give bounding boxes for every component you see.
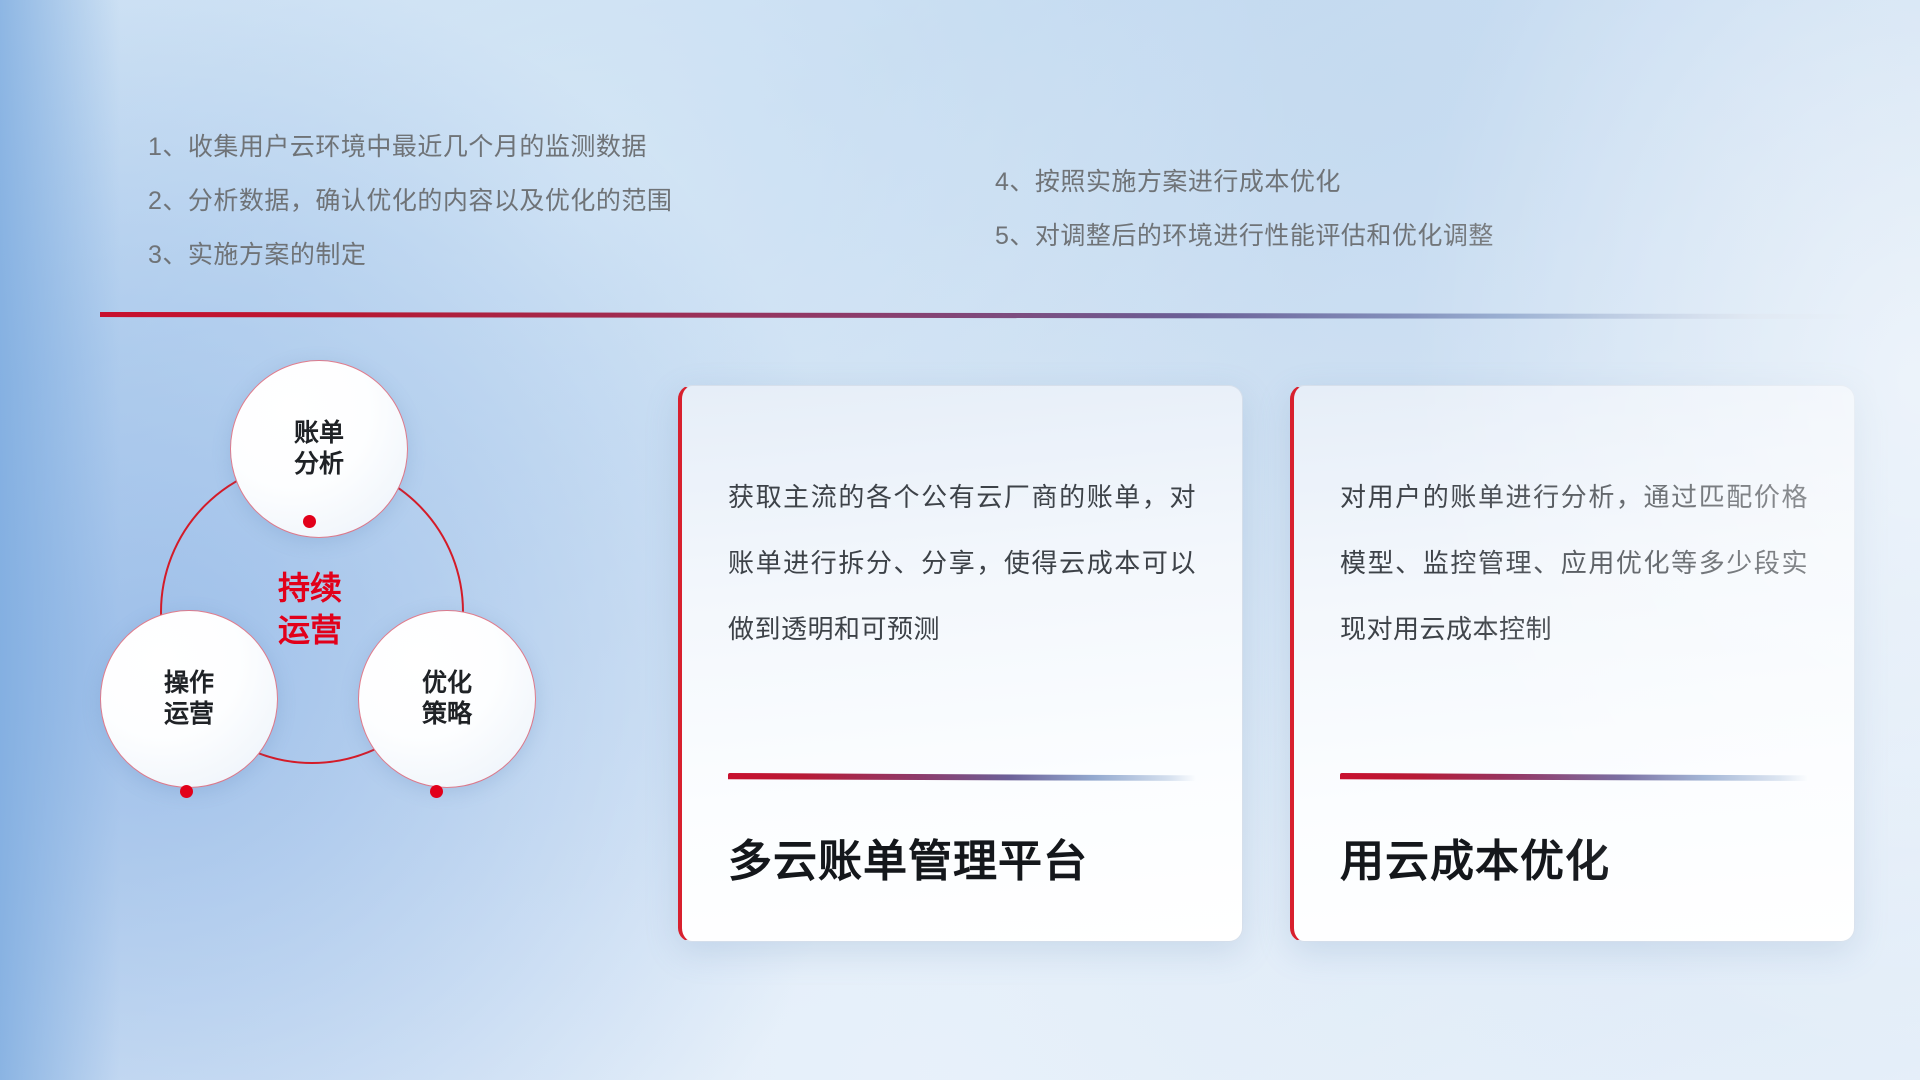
venn-label-center: 持续 运营 [160, 460, 460, 760]
info-card-cloud-cost-optimization[interactable]: 对用户的账单进行分析，通过匹配价格模型、监控管理、应用优化等多少段实现对用云成本… [1290, 385, 1855, 942]
slide-canvas: 1、收集用户云环境中最近几个月的监测数据 2、分析数据，确认优化的内容以及优化的… [0, 0, 1920, 1080]
step-item-5: 5、对调整后的环境进行性能评估和优化调整 [995, 209, 1494, 263]
step-item-1: 1、收集用户云环境中最近几个月的监测数据 [148, 120, 672, 174]
info-card-multicloud-billing[interactable]: 获取主流的各个公有云厂商的账单，对账单进行拆分、分享，使得云成本可以做到透明和可… [678, 385, 1243, 942]
header-divider [100, 312, 1856, 319]
card-accent-bar [728, 773, 1196, 781]
step-item-2: 2、分析数据，确认优化的内容以及优化的范围 [148, 174, 672, 228]
venn-node-dot-top [303, 515, 316, 528]
venn-node-dot-right [430, 785, 443, 798]
venn-label-center-line1: 持续 [278, 568, 342, 610]
venn-label-center-line2: 运营 [278, 610, 342, 652]
venn-label-top-line1: 账单 [294, 418, 344, 449]
card-title: 用云成本优化 [1340, 825, 1610, 889]
card-title: 多云账单管理平台 [728, 825, 1088, 889]
card-accent-bar [1340, 773, 1808, 781]
step-item-3: 3、实施方案的制定 [148, 228, 672, 282]
step-item-4: 4、按照实施方案进行成本优化 [995, 155, 1494, 209]
card-body-text: 获取主流的各个公有云厂商的账单，对账单进行拆分、分享，使得云成本可以做到透明和可… [728, 464, 1196, 662]
venn-diagram: 账单 分析 操作 运营 优化 策略 持续 运营 [100, 360, 620, 880]
card-body-text: 对用户的账单进行分析，通过匹配价格模型、监控管理、应用优化等多少段实现对用云成本… [1340, 464, 1808, 662]
steps-list-right: 4、按照实施方案进行成本优化 5、对调整后的环境进行性能评估和优化调整 [995, 155, 1494, 263]
steps-list-left: 1、收集用户云环境中最近几个月的监测数据 2、分析数据，确认优化的内容以及优化的… [148, 120, 672, 282]
venn-node-dot-left [180, 785, 193, 798]
